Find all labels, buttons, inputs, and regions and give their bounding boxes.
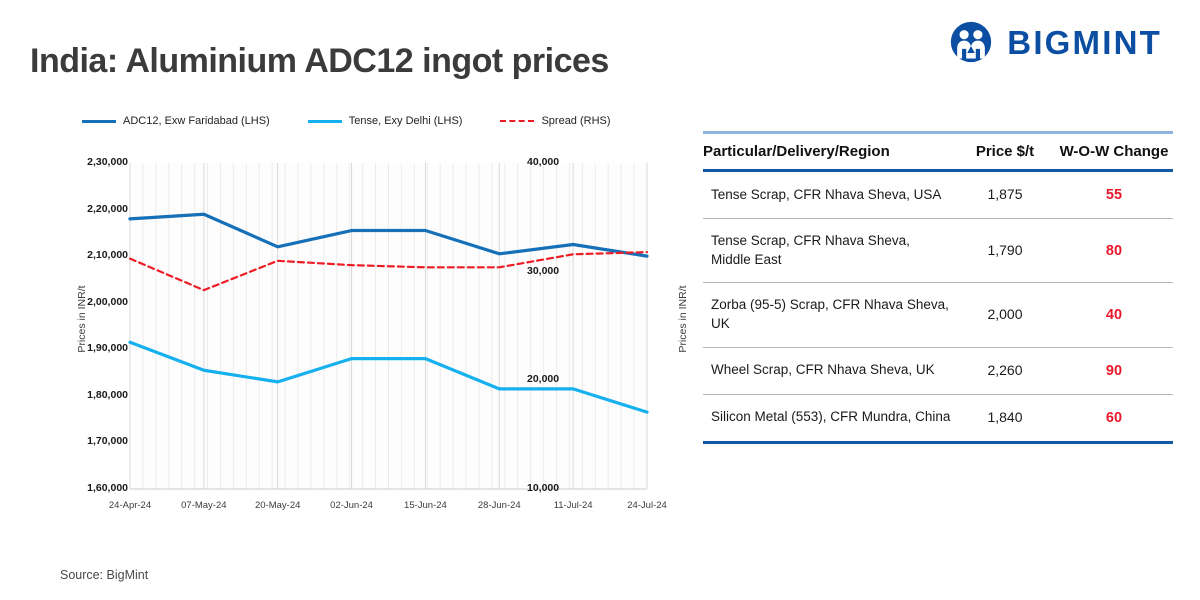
table-row: Tense Scrap, CFR Nhava Sheva, Middle Eas… xyxy=(703,219,1173,283)
y-tick-label-right: 40,000 xyxy=(527,156,559,168)
legend-label-tense: Tense, Exy Delhi (LHS) xyxy=(349,115,463,127)
chart-panel: ADC12, Exw Faridabad (LHS) Tense, Exy De… xyxy=(30,105,690,525)
legend-swatch-tense xyxy=(308,120,342,123)
y-tick-label-left: 2,10,000 xyxy=(87,249,128,261)
col-header-change: W-O-W Change xyxy=(1059,133,1173,171)
cell-change: 90 xyxy=(1059,347,1173,394)
x-tick-label: 20-May-24 xyxy=(255,500,300,511)
x-tick-label: 24-Apr-24 xyxy=(109,500,151,511)
x-tick-label: 02-Jun-24 xyxy=(330,500,373,511)
x-tick-label: 24-Jul-24 xyxy=(627,500,667,511)
x-tick-label: 15-Jun-24 xyxy=(404,500,447,511)
y-tick-label-right: 30,000 xyxy=(527,265,559,277)
bigmint-people-circle-icon xyxy=(949,20,993,64)
x-tick-label: 11-Jul-24 xyxy=(554,500,593,511)
y-tick-label-left: 1,70,000 xyxy=(87,435,128,447)
col-header-particular: Particular/Delivery/Region xyxy=(703,133,955,171)
cell-particular: Wheel Scrap, CFR Nhava Sheva, UK xyxy=(703,347,955,394)
y-tick-label-left: 1,80,000 xyxy=(87,389,128,401)
table-row: Zorba (95-5) Scrap, CFR Nhava Sheva, UK2… xyxy=(703,283,1173,347)
plot-frame: Prices in INR/t Prices in INR/t 1,60,000… xyxy=(30,145,690,525)
cell-particular: Tense Scrap, CFR Nhava Sheva, USA xyxy=(703,171,955,219)
x-tick-label: 07-May-24 xyxy=(181,500,226,511)
plot-svg xyxy=(30,145,690,525)
price-table: Particular/Delivery/Region Price $/t W-O… xyxy=(703,131,1173,444)
cell-particular: Silicon Metal (553), CFR Mundra, China xyxy=(703,394,955,442)
y-tick-label-left: 2,20,000 xyxy=(87,203,128,215)
y-tick-label-right: 10,000 xyxy=(527,482,559,494)
table-row: Tense Scrap, CFR Nhava Sheva, USA1,87555 xyxy=(703,171,1173,219)
legend-swatch-spread xyxy=(500,120,534,122)
legend-item-spread: Spread (RHS) xyxy=(500,115,610,127)
source-note: Source: BigMint xyxy=(60,568,148,582)
cell-price: 1,875 xyxy=(955,171,1059,219)
slide-canvas: India: Aluminium ADC12 ingot prices BIGM… xyxy=(0,0,1200,600)
price-table-head: Particular/Delivery/Region Price $/t W-O… xyxy=(703,133,1173,171)
brand-wordmark: BIGMINT xyxy=(1007,26,1162,59)
cell-change: 80 xyxy=(1059,219,1173,283)
y-tick-label-right: 20,000 xyxy=(527,373,559,385)
cell-particular: Tense Scrap, CFR Nhava Sheva, Middle Eas… xyxy=(703,219,955,283)
legend-item-adc12: ADC12, Exw Faridabad (LHS) xyxy=(82,115,270,127)
cell-change: 60 xyxy=(1059,394,1173,442)
chart-legend: ADC12, Exw Faridabad (LHS) Tense, Exy De… xyxy=(82,115,682,127)
legend-label-spread: Spread (RHS) xyxy=(541,115,610,127)
cell-price: 2,000 xyxy=(955,283,1059,347)
cell-change: 55 xyxy=(1059,171,1173,219)
y-tick-label-left: 2,30,000 xyxy=(87,156,128,168)
y-tick-label-left: 2,00,000 xyxy=(87,296,128,308)
table-header-row: Particular/Delivery/Region Price $/t W-O… xyxy=(703,133,1173,171)
table-row: Silicon Metal (553), CFR Mundra, China1,… xyxy=(703,394,1173,442)
y-tick-label-left: 1,60,000 xyxy=(87,482,128,494)
cell-particular: Zorba (95-5) Scrap, CFR Nhava Sheva, UK xyxy=(703,283,955,347)
brand-logo: BIGMINT xyxy=(949,20,1162,64)
cell-change: 40 xyxy=(1059,283,1173,347)
price-table-body: Tense Scrap, CFR Nhava Sheva, USA1,87555… xyxy=(703,171,1173,443)
legend-swatch-adc12 xyxy=(82,120,116,123)
cell-price: 1,840 xyxy=(955,394,1059,442)
legend-item-tense: Tense, Exy Delhi (LHS) xyxy=(308,115,463,127)
cell-price: 2,260 xyxy=(955,347,1059,394)
cell-price: 1,790 xyxy=(955,219,1059,283)
page-title: India: Aluminium ADC12 ingot prices xyxy=(30,42,609,81)
table-row: Wheel Scrap, CFR Nhava Sheva, UK2,26090 xyxy=(703,347,1173,394)
y-tick-label-left: 1,90,000 xyxy=(87,342,128,354)
col-header-price: Price $/t xyxy=(955,133,1059,171)
legend-label-adc12: ADC12, Exw Faridabad (LHS) xyxy=(123,115,270,127)
x-tick-label: 28-Jun-24 xyxy=(478,500,521,511)
